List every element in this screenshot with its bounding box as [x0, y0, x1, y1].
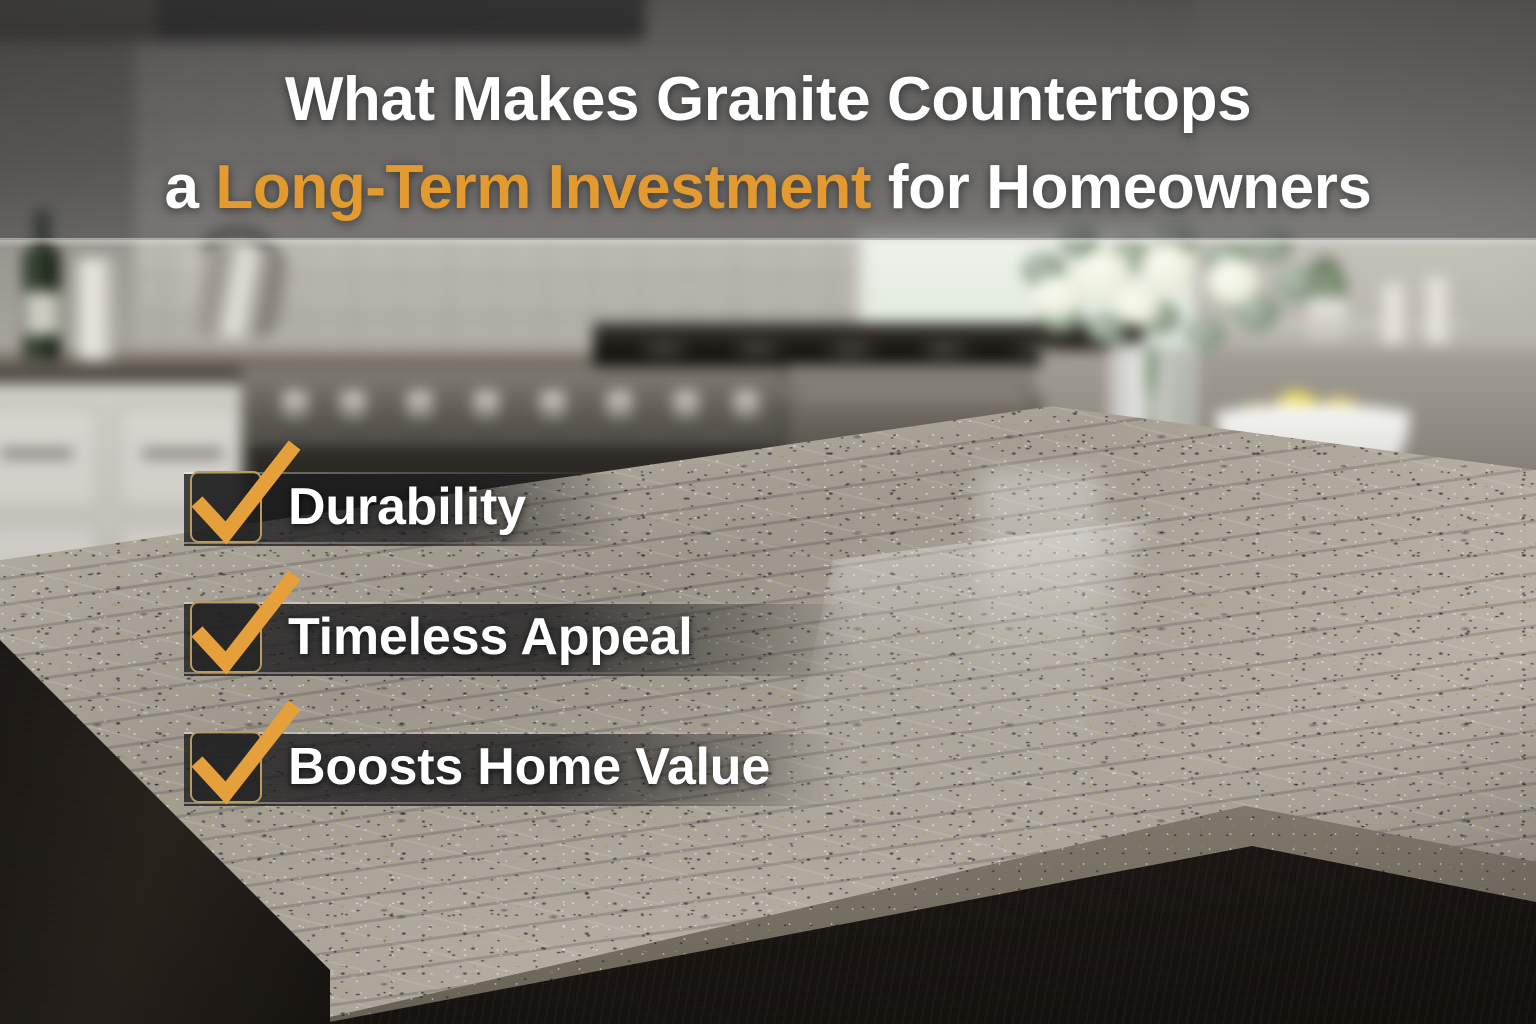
wine-bottle-label — [25, 292, 58, 336]
title-scrim-fade — [0, 238, 1536, 248]
range-knob — [672, 391, 699, 426]
feature-bottom-rule — [184, 802, 846, 804]
title-line-1: What Makes Granite Countertops — [0, 56, 1536, 144]
burner — [728, 341, 786, 358]
range-knob — [281, 391, 308, 426]
feature-label: Durability — [288, 477, 526, 537]
checkbox-timeless-appeal[interactable] — [190, 601, 262, 673]
title-line-2: a Long-Term Investment for Homeowners — [0, 144, 1536, 232]
feature-label: Timeless Appeal — [288, 607, 693, 667]
range-knob — [473, 391, 500, 426]
banner-title: What Makes Granite Countertops a Long-Te… — [0, 56, 1536, 232]
canister — [1423, 277, 1456, 344]
burner — [916, 341, 974, 358]
cabinet-handle — [142, 450, 223, 457]
range-knob — [539, 391, 566, 426]
cabinet-panel — [0, 406, 100, 510]
feature-bottom-rule — [184, 672, 856, 674]
checkbox-boosts-home-value[interactable] — [190, 731, 262, 803]
feature-label: Boosts Home Value — [288, 737, 770, 797]
canister — [1380, 283, 1413, 343]
checkbox-durability[interactable] — [190, 471, 262, 543]
feature-item-boosts-home-value: Boosts Home Value — [178, 728, 1078, 806]
title-accent: Long-Term Investment — [215, 153, 871, 222]
feature-top-rule — [184, 732, 846, 734]
range-knob — [733, 391, 760, 426]
feature-item-timeless-appeal: Timeless Appeal — [178, 598, 1078, 676]
feature-top-rule — [184, 602, 856, 604]
checkmark-icon — [186, 705, 304, 809]
feature-item-durability: Durability — [178, 468, 1078, 546]
range-knob — [340, 391, 367, 426]
dishwasher-handle — [801, 393, 1021, 397]
title-suffix: for Homeowners — [871, 153, 1371, 222]
title-prefix: a — [164, 153, 215, 222]
feature-list: Durability Timeless Appeal Boosts Home — [178, 468, 1078, 858]
checkmark-icon — [186, 575, 304, 679]
burner — [635, 341, 693, 358]
burner — [822, 341, 880, 358]
range-knob — [406, 391, 433, 426]
kitchen-jar — [77, 258, 112, 360]
range-knob — [606, 391, 633, 426]
promo-banner: What Makes Granite Countertops a Long-Te… — [0, 0, 1536, 1024]
kettle — [188, 248, 288, 337]
cabinet-handle — [0, 450, 73, 457]
